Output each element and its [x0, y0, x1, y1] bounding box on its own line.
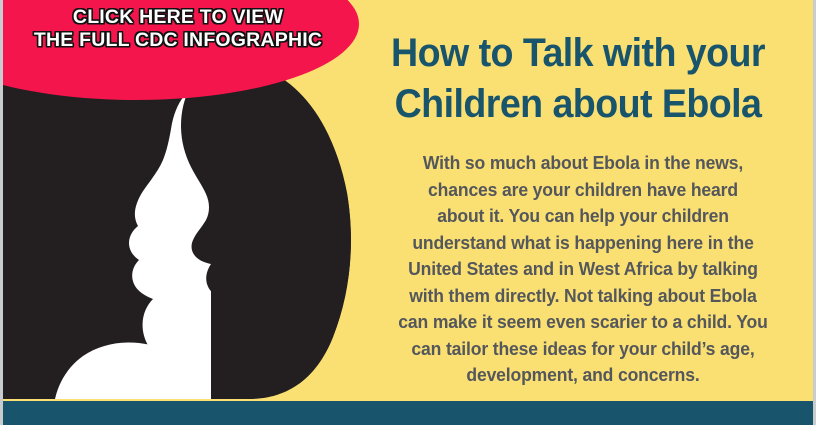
body-line-7: can make it seem even scarier to a child…: [378, 309, 787, 336]
banner-line-1: CLICK HERE TO VIEW: [3, 6, 353, 29]
bottom-accent-bar: [3, 401, 816, 425]
body-line-4: understand what is happening here in the: [378, 230, 787, 257]
body-line-6: with them directly. Not talking about Eb…: [378, 283, 787, 310]
body-line-9: development, and concerns.: [378, 362, 787, 389]
text-column: How to Talk with your Children about Ebo…: [355, 0, 816, 401]
page-title: How to Talk with your Children about Ebo…: [368, 28, 787, 130]
body-line-2: chances are your children have heard: [378, 177, 787, 204]
infographic-banner: CLICK HERE TO VIEW THE FULL CDC INFOGRAP…: [0, 0, 816, 425]
body-line-5: United States and in West Africa by talk…: [378, 256, 787, 283]
silhouette-illustration-panel: [3, 63, 355, 399]
headline-line-1: How to Talk with your: [368, 28, 787, 79]
click-here-banner-label[interactable]: CLICK HERE TO VIEW THE FULL CDC INFOGRAP…: [3, 6, 353, 52]
dark-panel-shape: [3, 63, 355, 399]
body-paragraph: With so much about Ebola in the news, ch…: [378, 150, 787, 389]
banner-line-2: THE FULL CDC INFOGRAPHIC: [3, 29, 353, 52]
body-line-1: With so much about Ebola in the news,: [378, 150, 787, 177]
silhouette-artwork: [3, 63, 355, 399]
body-line-8: can tailor these ideas for your child’s …: [378, 336, 787, 363]
body-line-3: about it. You can help your children: [378, 203, 787, 230]
headline-line-2: Children about Ebola: [368, 79, 787, 130]
